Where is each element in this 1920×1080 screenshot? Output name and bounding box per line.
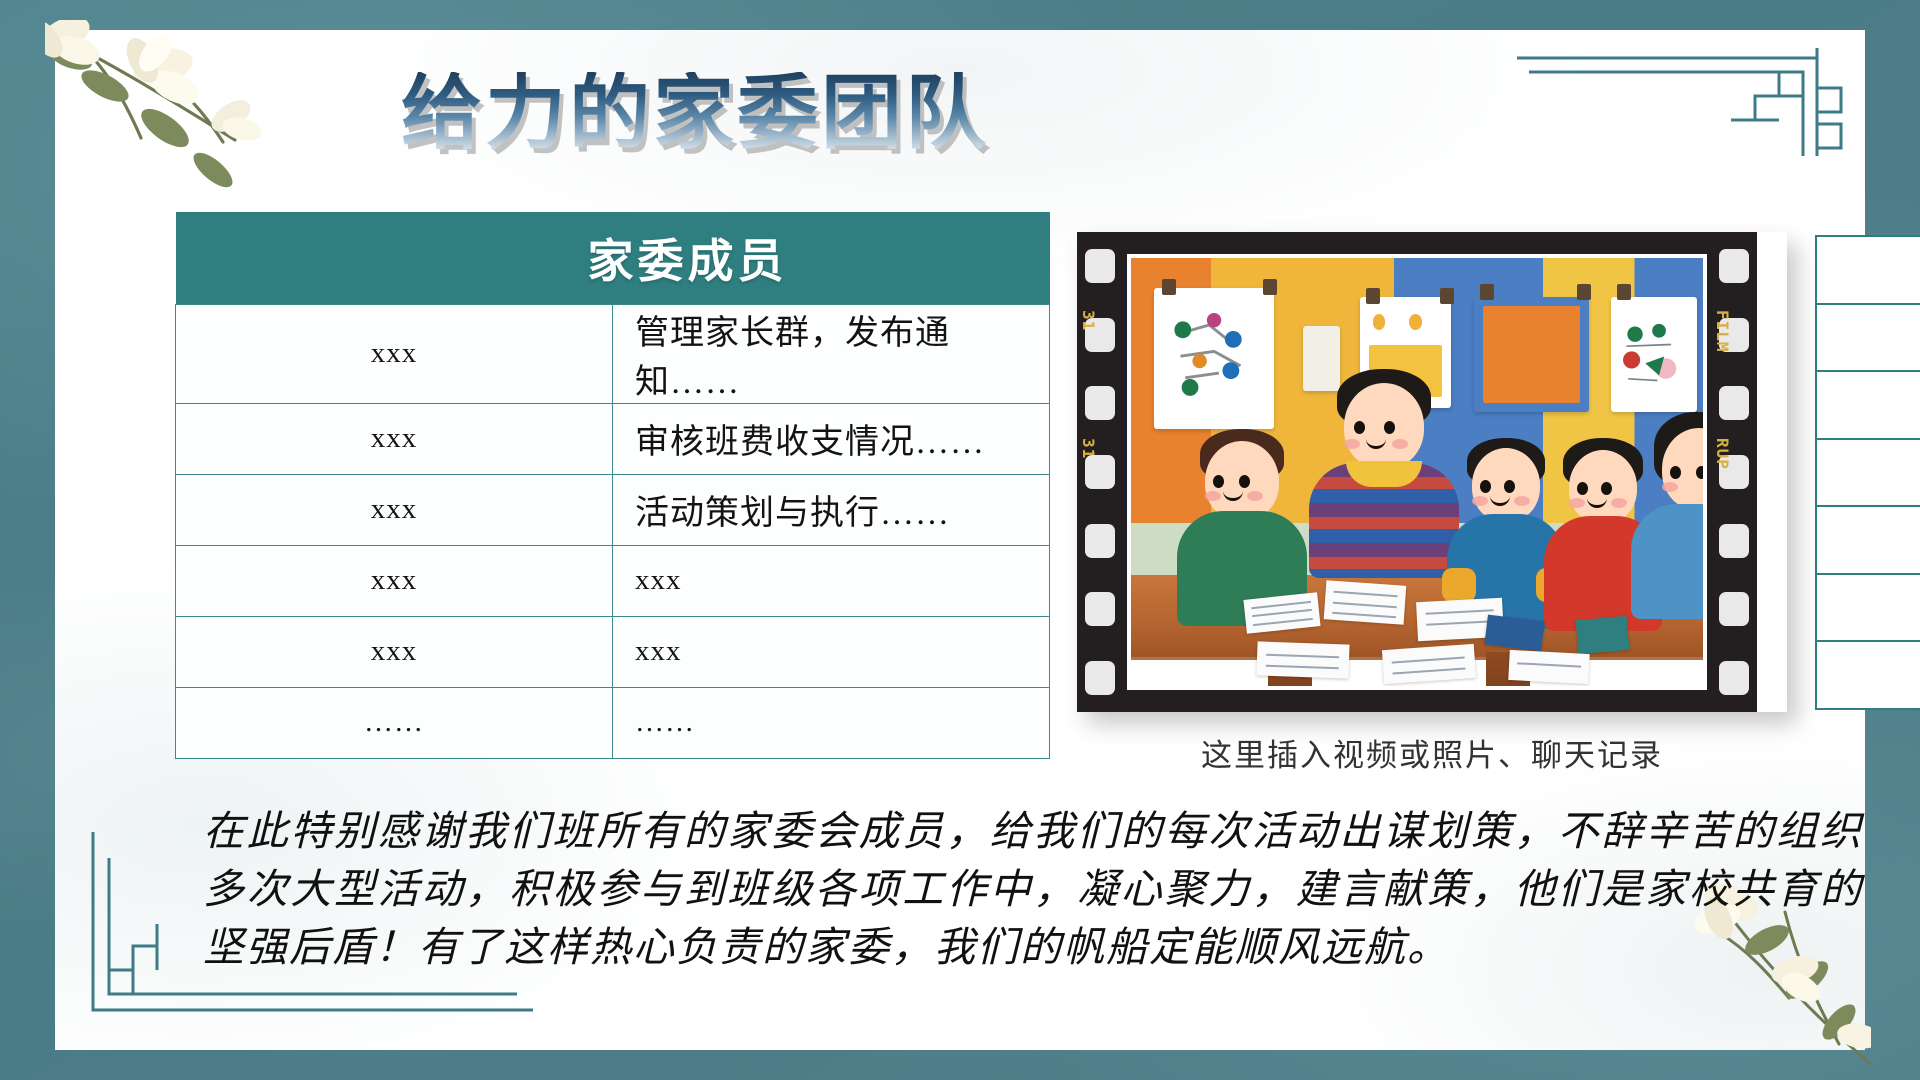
- wall-framed-board: [1474, 297, 1588, 413]
- perforation-hole: [1085, 455, 1115, 489]
- poster-clip-icon: [1366, 288, 1380, 304]
- poster-scribble-icon: [1154, 288, 1274, 429]
- table-cell-member-name: xxx: [176, 545, 613, 616]
- poster-clip-icon: [1577, 284, 1591, 300]
- poster-clip-icon: [1480, 284, 1494, 300]
- filmstrip-perforations-right: FILM RUP: [1711, 232, 1757, 712]
- table-row: …………: [176, 687, 1050, 758]
- blank-filmstrip-cell[interactable]: [1817, 507, 1920, 575]
- perforation-hole: [1085, 249, 1115, 283]
- table-cell-member-duty: 活动策划与执行……: [613, 474, 1050, 545]
- wall-poster-drawing: [1154, 288, 1274, 429]
- table-cell-member-name: xxx: [176, 403, 613, 474]
- poster-clip-icon: [1263, 279, 1277, 295]
- classroom-illustration: [1131, 258, 1703, 686]
- blank-filmstrip-cell[interactable]: [1817, 642, 1920, 708]
- table-document: [1382, 644, 1476, 685]
- photo-frame: [1127, 254, 1707, 690]
- poster-clip-icon: [1162, 279, 1176, 295]
- table-header-title: 家委成员: [176, 212, 1050, 304]
- filmstrip-body: 31 31: [1077, 232, 1757, 712]
- thanks-paragraph: 在此特别感谢我们班所有的家委会成员，给我们的每次活动出谋划策，不辞辛苦的组织多次…: [203, 802, 1863, 977]
- roster-table-wrapper: 家委成员 xxx管理家长群，发布通知……xxx审核班费收支情况……xxx活动策划…: [175, 212, 1050, 759]
- table-document-blue: [1484, 614, 1544, 651]
- table-row: xxx审核班费收支情况……: [176, 403, 1050, 474]
- blank-filmstrip-cell[interactable]: [1817, 372, 1920, 440]
- table-cell-member-duty: 管理家长群，发布通知……: [613, 304, 1050, 403]
- roster-table: 家委成员 xxx管理家长群，发布通知……xxx审核班费收支情况……xxx活动策划…: [175, 212, 1050, 759]
- blank-filmstrip[interactable]: [1815, 235, 1920, 710]
- film-edge-mark-1: 31: [1079, 310, 1098, 331]
- perforation-hole: [1719, 386, 1749, 420]
- table-cell-member-name: xxx: [176, 474, 613, 545]
- perforation-hole: [1719, 249, 1749, 283]
- person-parent-right: [1634, 412, 1703, 592]
- table-cell-member-duty: 审核班费收支情况……: [613, 403, 1050, 474]
- blank-filmstrip-cell[interactable]: [1817, 305, 1920, 373]
- poster-clip-icon: [1440, 288, 1454, 304]
- table-cell-member-name: xxx: [176, 616, 613, 687]
- poster-clip-icon: [1617, 284, 1631, 300]
- blank-filmstrip-cell[interactable]: [1817, 440, 1920, 508]
- slide-root: 给力的家委团队 家委成员 xxx管理家长群，发布通知……xxx审核班费收支情况……: [0, 0, 1920, 1080]
- photo-filmstrip[interactable]: 31 31: [1077, 232, 1787, 712]
- perforation-hole: [1719, 592, 1749, 626]
- film-edge-mark-3: FILM: [1713, 310, 1732, 353]
- perforation-hole: [1085, 524, 1115, 558]
- table-cell-member-name: ……: [176, 687, 613, 758]
- table-header-row: 家委成员: [176, 212, 1050, 304]
- blank-filmstrip-cell[interactable]: [1817, 237, 1920, 305]
- perforation-hole: [1085, 661, 1115, 695]
- table-document-teal: [1576, 615, 1630, 654]
- table-row: xxx管理家长群，发布通知……: [176, 304, 1050, 403]
- poster-scribble-2-icon: [1611, 297, 1697, 413]
- filmstrip-perforations-left: 31 31: [1077, 232, 1123, 712]
- table-document: [1324, 581, 1407, 625]
- perforation-hole: [1719, 661, 1749, 695]
- framed-board-inner: [1483, 306, 1579, 404]
- table-document: [1508, 650, 1590, 684]
- content-card: 给力的家委团队 家委成员 xxx管理家长群，发布通知……xxx审核班费收支情况……: [55, 30, 1865, 1050]
- table-cell-member-duty: xxx: [613, 545, 1050, 616]
- perforation-hole: [1085, 592, 1115, 626]
- film-edge-mark-4: RUP: [1713, 438, 1732, 470]
- film-edge-mark-2: 31: [1079, 438, 1098, 459]
- table-row: xxxxxx: [176, 545, 1050, 616]
- table-cell-member-duty: xxx: [613, 616, 1050, 687]
- blank-filmstrip-cell[interactable]: [1817, 575, 1920, 643]
- corner-fret-top-right-icon: [1517, 48, 1847, 163]
- media-caption: 这里插入视频或照片、聊天记录: [1077, 730, 1787, 775]
- table-document: [1256, 642, 1349, 679]
- page-title: 给力的家委团队: [285, 72, 1105, 158]
- person-parent-center: [1314, 369, 1454, 559]
- table-row: xxx活动策划与执行……: [176, 474, 1050, 545]
- perforation-hole: [1719, 524, 1749, 558]
- perforation-hole: [1085, 386, 1115, 420]
- table-row: xxxxxx: [176, 616, 1050, 687]
- person-parent-left: [1177, 429, 1307, 599]
- table-cell-member-duty: ……: [613, 687, 1050, 758]
- table-body: xxx管理家长群，发布通知……xxx审核班费收支情况……xxx活动策划与执行………: [176, 304, 1050, 758]
- wall-poster-drawing-2: [1611, 297, 1697, 413]
- table-cell-member-name: xxx: [176, 304, 613, 403]
